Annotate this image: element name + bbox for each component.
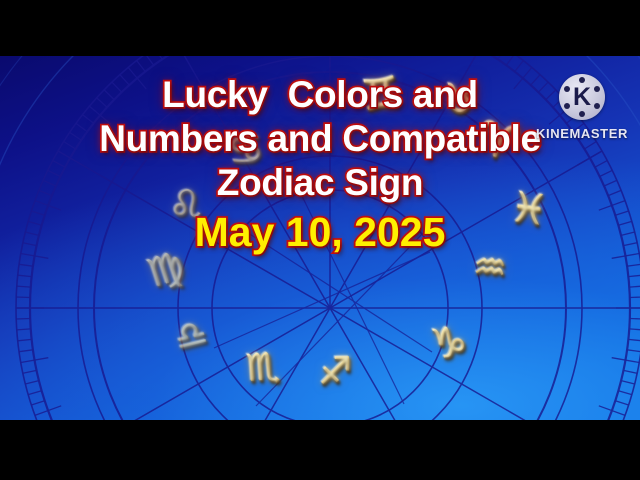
zodiac-glyph-scorpio: ♏ (245, 347, 282, 387)
zodiac-glyph-capricorn: ♑ (428, 320, 470, 366)
zodiac-glyph-sagittarius: ♐ (318, 352, 352, 390)
kinemaster-watermark: K KINEMASTER (528, 74, 636, 141)
zodiac-glyph-pisces: ♓ (507, 186, 550, 233)
letterbox-bar-bottom (0, 420, 640, 480)
kinemaster-logo-letter: K (559, 74, 605, 120)
kinemaster-logo-icon: K (559, 74, 605, 120)
video-thumbnail-canvas: ♊♉♈♓♒♑♐♏♎♍♌♋ Lucky Colors and Numbers an… (0, 0, 640, 480)
letterbox-bar-top (0, 0, 640, 56)
zodiac-glyph-taurus: ♉ (441, 78, 479, 119)
zodiac-glyph-gemini: ♊ (359, 71, 402, 118)
zodiac-glyph-aquarius: ♒ (472, 247, 509, 287)
zodiac-glyph-cancer: ♋ (226, 128, 266, 172)
kinemaster-wordmark: KINEMASTER (528, 126, 636, 141)
